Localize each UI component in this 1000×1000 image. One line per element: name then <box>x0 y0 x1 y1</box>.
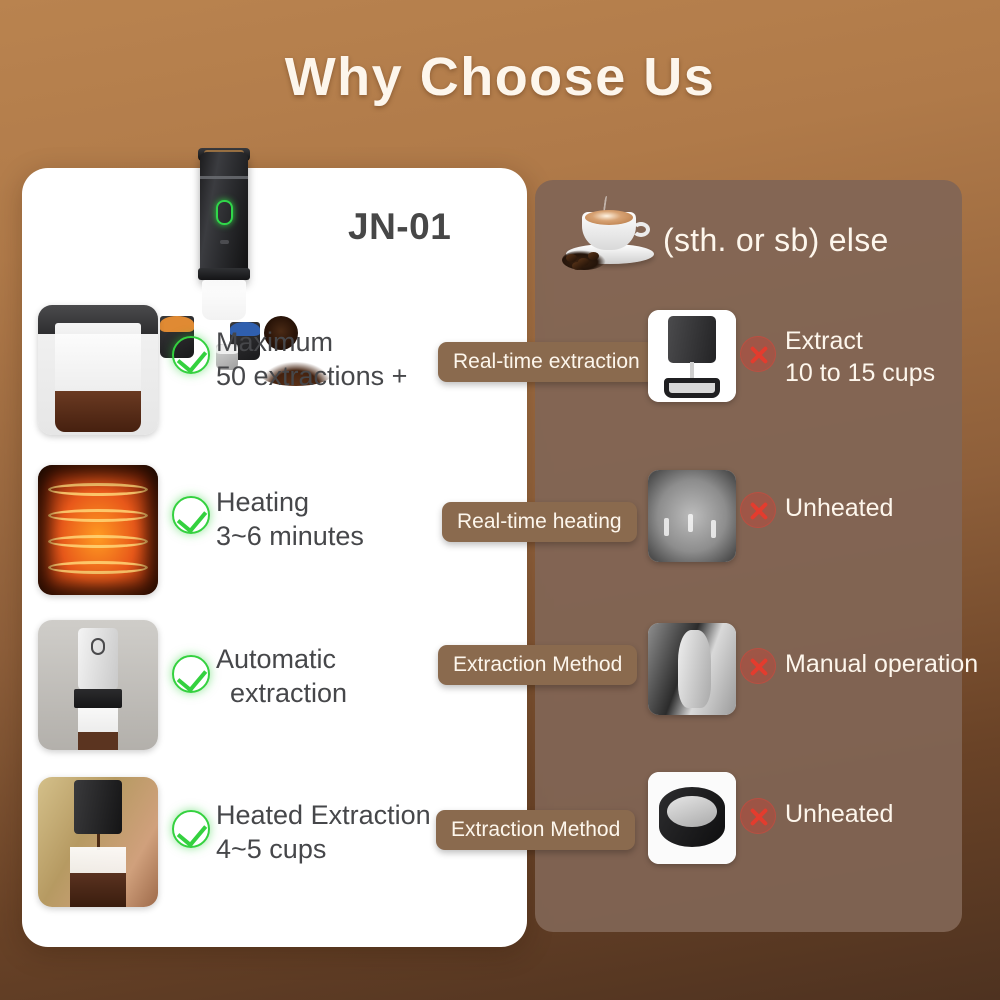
comparison-row: Heating 3~6 minutes Real-time heating Un… <box>0 460 1000 620</box>
latte-art <box>585 210 633 225</box>
cold-water-image <box>648 470 736 562</box>
automatic-machine-image <box>38 620 158 750</box>
left-feature-line1: Heated Extraction <box>216 798 431 832</box>
coffee-bean <box>572 262 583 270</box>
feature-badge: Extraction Method <box>438 645 637 685</box>
comparison-row: Maximum 50 extractions + Real-time extra… <box>0 300 1000 460</box>
right-feature-line1: Unheated <box>785 798 893 830</box>
right-feature-line1: Manual operation <box>785 648 978 680</box>
french-press-image <box>648 310 736 402</box>
left-feature-text: Automatic extraction <box>216 642 347 710</box>
right-feature-text: Manual operation <box>785 648 978 680</box>
left-feature-line1: Automatic <box>216 642 347 676</box>
page-title: Why Choose Us <box>0 46 1000 108</box>
left-feature-text: Heated Extraction 4~5 cups <box>216 798 431 866</box>
left-feature-line1: Maximum <box>216 325 407 359</box>
feature-badge: Real-time extraction <box>438 342 655 382</box>
left-feature-line1: Heating <box>216 485 364 519</box>
x-circle-icon <box>740 492 776 528</box>
coffee-bean <box>588 252 599 260</box>
x-circle-icon <box>740 798 776 834</box>
machine-lower-band <box>198 268 250 280</box>
coffee-extraction-cup-image <box>38 305 158 435</box>
right-panel-title: (sth. or sb) else <box>663 222 889 259</box>
right-feature-text: Extract 10 to 15 cups <box>785 325 935 389</box>
portable-coffee-machine-icon <box>112 100 332 290</box>
coffee-cup-icon <box>560 196 660 272</box>
check-circle-icon <box>172 655 210 693</box>
left-feature-line2: 50 extractions + <box>216 359 407 393</box>
comparison-row: Heated Extraction 4~5 cups Extraction Me… <box>0 772 1000 932</box>
feature-badge: Real-time heating <box>442 502 637 542</box>
left-feature-text: Maximum 50 extractions + <box>216 325 407 393</box>
coffee-bean <box>566 254 577 262</box>
heating-coils-image <box>38 465 158 595</box>
left-feature-line2: extraction <box>216 676 347 710</box>
heated-extraction-image <box>38 777 158 907</box>
comparison-row: Automatic extraction Extraction Method M… <box>0 615 1000 775</box>
machine-button <box>220 240 229 244</box>
right-feature-text: Unheated <box>785 492 893 524</box>
left-feature-line2: 4~5 cups <box>216 832 431 866</box>
check-circle-icon <box>172 336 210 374</box>
left-feature-line2: 3~6 minutes <box>216 519 364 553</box>
feature-badge: Extraction Method <box>436 810 635 850</box>
right-feature-text: Unheated <box>785 798 893 830</box>
check-circle-icon <box>172 810 210 848</box>
right-feature-line2: 10 to 15 cups <box>785 357 935 389</box>
x-circle-icon <box>740 336 776 372</box>
right-feature-line1: Extract <box>785 325 935 357</box>
x-circle-icon <box>740 648 776 684</box>
machine-display-icon <box>216 200 233 225</box>
hand-pressing-image <box>648 623 736 715</box>
right-feature-line1: Unheated <box>785 492 893 524</box>
left-panel-title: JN-01 <box>348 206 451 248</box>
left-feature-text: Heating 3~6 minutes <box>216 485 364 553</box>
check-circle-icon <box>172 496 210 534</box>
machine-ring <box>200 176 248 179</box>
filter-basket-image <box>648 772 736 864</box>
